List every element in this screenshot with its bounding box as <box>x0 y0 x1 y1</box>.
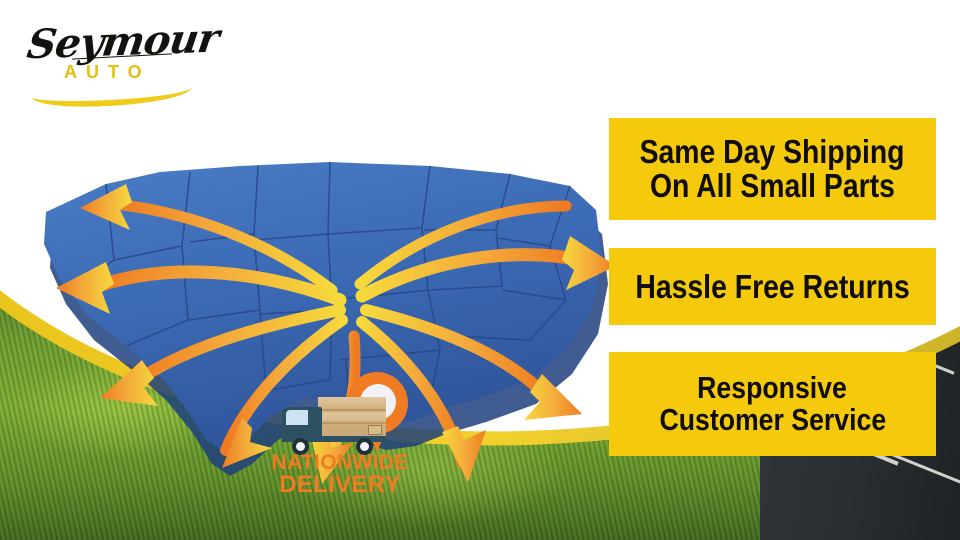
promo-banner-same-day-shipping[interactable]: Same Day Shipping On All Small Parts <box>609 118 936 220</box>
promo-line: Hassle Free Returns <box>635 270 909 304</box>
promo-banner-responsive-customer-service[interactable]: Responsive Customer Service <box>609 352 936 456</box>
nationwide-line-2: DELIVERY <box>265 473 415 496</box>
delivery-truck-icon <box>280 395 385 457</box>
brand-name: Seymour <box>24 15 221 69</box>
nationwide-line-1: NATIONWIDE <box>265 453 415 473</box>
promo-line: On All Small Parts <box>650 169 895 203</box>
promo-line: Same Day Shipping <box>640 135 905 169</box>
promo-banner-hassle-free-returns[interactable]: Hassle Free Returns <box>609 248 936 325</box>
nationwide-delivery-label: NATIONWIDE DELIVERY <box>265 453 415 496</box>
brand-logo[interactable]: Seymour AUTO <box>22 16 202 98</box>
promo-line: Responsive <box>698 372 848 404</box>
usa-map-graphic: NATIONWIDE DELIVERY <box>10 150 630 500</box>
promo-line: Customer Service <box>659 404 886 436</box>
promo-banner-image: Seymour AUTO <box>0 0 960 540</box>
